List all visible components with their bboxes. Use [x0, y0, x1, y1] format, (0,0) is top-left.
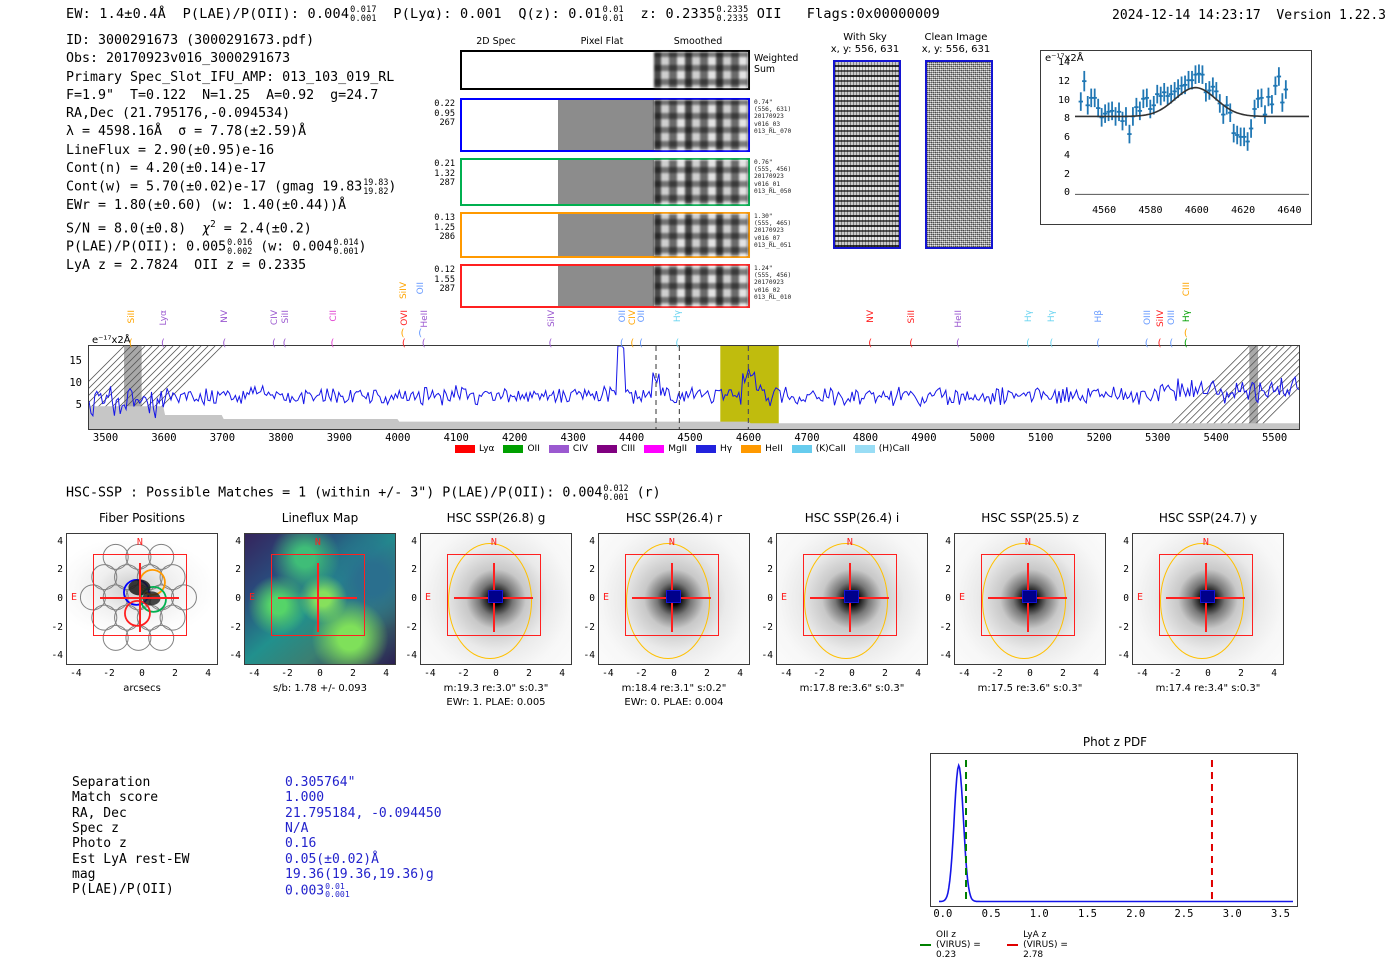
panel-xtick: -2 — [97, 668, 121, 679]
panel-xtick: 4 — [1262, 668, 1286, 679]
panel-xtick: 4 — [374, 668, 398, 679]
legend-swatch — [644, 445, 664, 453]
panel-caption-1: m:18.4 re:3.1" s:0.2" — [574, 683, 774, 694]
spectral-line-bracket: ( — [422, 338, 426, 349]
match-table-value: 0.16 — [285, 836, 316, 851]
legend-swatch — [696, 445, 716, 453]
panel-ytick: -4 — [400, 650, 417, 661]
panel-ytick: -4 — [224, 650, 241, 661]
version-label: Version 1.22.3 — [1276, 8, 1386, 23]
spectrum-xtick: 4400 — [610, 432, 654, 444]
spectrum-legend: LyαOIICIVCIIIMgIIHγHeII(K)CaII(H)CaII — [455, 444, 910, 454]
spectrum-xtick: 5400 — [1194, 432, 1238, 444]
summary-header: EW: 1.4±0.4Å P(LAE)/P(OII): 0.0040.0170.… — [66, 6, 940, 24]
spectral-line-label: OII — [618, 310, 628, 322]
line-profile-xtick: 4620 — [1227, 205, 1259, 216]
panel-ytick: 2 — [578, 564, 595, 575]
panel-ytick: -2 — [578, 622, 595, 633]
spectral-line-label: Hγ — [1182, 310, 1192, 322]
info-seeing: F=1.9" T=0.122 N=1.25 A=0.92 g=24.7 — [66, 87, 396, 105]
spectral-line-label: OII — [637, 310, 647, 322]
spectral-line-bracket: ( — [639, 338, 643, 349]
panel-caption-1: m:17.4 re:3.4" s:0.3" — [1108, 683, 1308, 694]
weighted-sum-label: WeightedSum — [754, 54, 798, 75]
photz-axes — [930, 753, 1298, 907]
panel-xtick: -2 — [1163, 668, 1187, 679]
line-profile-ytick: 4 — [1050, 150, 1070, 161]
panel-ytick: -2 — [756, 622, 773, 633]
match-table-key: P(LAE)/P(OII) — [72, 882, 174, 897]
line-profile-ytick: 8 — [1050, 113, 1070, 124]
spectral-line-label: OIII — [1143, 310, 1153, 325]
timestamp-version: 2024-12-14 14:23:17 Version 1.22.3 — [1112, 8, 1386, 23]
panel-ytick: 4 — [46, 536, 63, 547]
legend-label: MgII — [668, 444, 687, 454]
panel-xtick: -2 — [629, 668, 653, 679]
line-profile-ytick: 0 — [1050, 187, 1070, 198]
spectral-line-label: OIII — [1167, 310, 1177, 325]
panel-ytick: -4 — [578, 650, 595, 661]
match-table-key: Est LyA rest-EW — [72, 852, 189, 867]
match-marker — [666, 590, 681, 603]
legend-swatch — [855, 445, 875, 453]
panel-xtick: 2 — [163, 668, 187, 679]
error-region — [89, 406, 1299, 429]
panel-ytick: 0 — [934, 593, 951, 604]
spectral-line-bracket: ( — [283, 338, 287, 349]
panel-ytick: -2 — [1112, 622, 1129, 633]
photz-legend-label: LyA z (VIRUS) = 2.78 — [1023, 930, 1069, 960]
spectrum-xtick: 4200 — [493, 432, 537, 444]
spectrum-xtick: 4600 — [727, 432, 771, 444]
info-lineflux: LineFlux = 2.90(±0.95)e-16 — [66, 142, 396, 160]
panel-caption-1: m:17.8 re:3.6" s:0.3" — [752, 683, 952, 694]
fiber-left-values: 0.220.95267 — [415, 100, 455, 129]
spectral-line-label: SiIV — [399, 282, 409, 299]
panel-xtick: 4 — [196, 668, 220, 679]
panel-title: HSC SSP(24.7) y — [1118, 511, 1298, 525]
hsc-ssp-header: HSC-SSP : Possible Matches = 1 (within +… — [66, 484, 661, 501]
panel-title: Fiber Positions — [52, 511, 232, 525]
compass-north: N — [315, 537, 321, 548]
match-marker — [1200, 590, 1215, 603]
info-cont-w: Cont(w) = 5.70(±0.02)e-17 (gmag 19.8319.… — [66, 178, 396, 197]
panel-ytick: -2 — [934, 622, 951, 633]
panel-ytick: 4 — [400, 536, 417, 547]
panel-xtick: 0 — [130, 668, 154, 679]
hatch — [1201, 346, 1284, 429]
legend-label: (K)CaII — [816, 444, 846, 454]
info-plae: P(LAE)/P(OII): 0.0050.0160.002 (w: 0.004… — [66, 238, 396, 257]
panel-axes: NE — [420, 533, 572, 665]
panel-xtick: 4 — [906, 668, 930, 679]
panel-xtick: 0 — [1018, 668, 1042, 679]
line-profile-ytick: 6 — [1050, 132, 1070, 143]
spectrum-trace — [89, 346, 1299, 418]
panel-ytick: 0 — [400, 593, 417, 604]
compass-east: E — [603, 592, 609, 603]
spectral-line-label: Hγ — [673, 310, 683, 322]
header-plae-range: 0.0170.001 — [350, 6, 377, 23]
panel-ytick: 2 — [224, 564, 241, 575]
spectral-line-label: SiII — [281, 310, 291, 324]
legend-swatch — [597, 445, 617, 453]
line-profile-xtick: 4580 — [1134, 205, 1166, 216]
compass-north: N — [1025, 537, 1031, 548]
match-table-key: Photo z — [72, 836, 127, 851]
spectral-line-bracket: ( — [868, 338, 872, 349]
panel-xtick: -4 — [596, 668, 620, 679]
panel-ytick: 0 — [224, 593, 241, 604]
panel-title: HSC SSP(25.5) z — [940, 511, 1120, 525]
fiber-row — [460, 264, 750, 308]
line-profile-xtick: 4560 — [1088, 205, 1120, 216]
header-z-label: z: 0.2335 — [641, 6, 716, 22]
header-qz-range: 0.010.01 — [603, 6, 624, 23]
spectrum-xtick: 3800 — [259, 432, 303, 444]
hatch — [1236, 346, 1299, 429]
ws-pixelflat — [558, 52, 654, 88]
compass-east: E — [425, 592, 431, 603]
weighted-sum-row — [460, 50, 750, 90]
panel-ytick: 2 — [756, 564, 773, 575]
compass-north: N — [669, 537, 675, 548]
spectral-line-bracket: ( — [222, 338, 226, 349]
info-ewr: EWr = 1.80(±0.60) (w: 1.40(±0.44))Å — [66, 197, 396, 215]
fiber-right-meta: 1.24"(555, 456)20170923v016_02013_RL_010 — [754, 265, 791, 301]
cutout-1-title: Clean Image x, y: 556, 631 — [908, 32, 1004, 55]
photz-legend-item: LyA z (VIRUS) = 2.78 — [1007, 930, 1068, 960]
panel-xtick: 0 — [662, 668, 686, 679]
legend-swatch — [741, 445, 761, 453]
spectrum-xtick: 5500 — [1253, 432, 1297, 444]
line-profile-ytick: 12 — [1050, 76, 1070, 87]
header-z-range: 0.23350.2335 — [717, 6, 749, 23]
photz-title: Phot z PDF — [930, 735, 1300, 749]
panel-axes: NE — [954, 533, 1106, 665]
line-profile-axes: e⁻¹⁷x2Å — [1040, 50, 1312, 225]
photz-xtick: 3.5 — [1264, 908, 1296, 920]
spectrum-xtick: 4300 — [551, 432, 595, 444]
spectrum-xtick: 3900 — [317, 432, 361, 444]
panel-ytick: 2 — [400, 564, 417, 575]
spectrum-xtick: 5300 — [1136, 432, 1180, 444]
fiber-2dspec — [462, 100, 558, 150]
spectral-line-bracket: ( — [1049, 338, 1053, 349]
line-profile-xtick: 4640 — [1273, 205, 1305, 216]
legend-item: Lyα — [455, 444, 494, 454]
line-profile-ytick: 2 — [1050, 169, 1070, 180]
panel-caption-1: m:17.5 re:3.6" s:0.3" — [930, 683, 1130, 694]
spectral-line-label: Lyα — [159, 310, 169, 325]
spectral-line-bracket: ( — [161, 338, 165, 349]
panel-xtick: 0 — [308, 668, 332, 679]
match-table-value: 0.0030.010.001 — [285, 882, 350, 899]
photz-xtick: 1.0 — [1023, 908, 1055, 920]
panel-title: HSC SSP(26.4) i — [762, 511, 942, 525]
spectral-line-label: NV — [866, 310, 876, 323]
panel-xtick: 2 — [341, 668, 365, 679]
match-marker — [488, 590, 503, 603]
fiber-left-values: 0.211.32287 — [415, 160, 455, 189]
clean-image — [925, 60, 993, 249]
spectrum-xtick: 4800 — [843, 432, 887, 444]
spectral-line-label: NV — [220, 310, 230, 323]
match-table-key: Spec z — [72, 821, 119, 836]
photz-legend-label: OII z (VIRUS) = 0.23 — [936, 930, 981, 960]
panel-caption-2: EWr: 1. PLAE: 0.005 — [396, 697, 596, 708]
panel-ytick: -4 — [934, 650, 951, 661]
line-profile-ytick: 10 — [1050, 95, 1070, 106]
panel-ytick: 4 — [578, 536, 595, 547]
panel-xtick: -4 — [1130, 668, 1154, 679]
panel-ytick: 0 — [46, 593, 63, 604]
fiber-left-values: 0.131.25286 — [415, 214, 455, 243]
panel-xtick: -4 — [774, 668, 798, 679]
match-table-value: 19.36(19.36,19.36)g — [285, 867, 434, 882]
spectral-line-bracket: ( — [549, 338, 553, 349]
legend-item: (K)CaII — [792, 444, 846, 454]
spectrum-xtick: 3500 — [84, 432, 128, 444]
panel-title: Lineflux Map — [230, 511, 410, 525]
legend-item: (H)CaII — [855, 444, 910, 454]
spectral-line-bracket: ( — [675, 338, 679, 349]
ws-2dspec — [462, 52, 558, 88]
spectral-line-bracket: ( — [129, 338, 133, 349]
panel-xtick: -4 — [64, 668, 88, 679]
match-table-value: 0.305764" — [285, 775, 355, 790]
spectral-line-label: CII — [329, 310, 339, 322]
panel-ytick: 4 — [1112, 536, 1129, 547]
spectral-line-bracket: ( — [1096, 338, 1100, 349]
compass-north: N — [1203, 537, 1209, 548]
col-header-2dspec: 2D Spec — [456, 36, 536, 47]
info-sn-chi2: S/N = 8.0(±0.8) χ2 = 2.4(±0.2) — [66, 216, 396, 239]
spectrum-xtick: 3700 — [200, 432, 244, 444]
spectral-line-label: OVI — [400, 310, 410, 326]
fiber-2dspec — [462, 160, 558, 204]
photz-xtick: 3.0 — [1216, 908, 1248, 920]
spectral-line-bracket: ( — [331, 338, 335, 349]
col-header-pixelflat: Pixel Flat — [562, 36, 642, 47]
header-plya: P(Lyα): 0.001 — [393, 6, 501, 22]
spectrum-units: e⁻¹⁷x2Å — [92, 335, 131, 346]
match-table-key: Match score — [72, 790, 158, 805]
panel-axes: NE — [598, 533, 750, 665]
panel-xtick: -4 — [418, 668, 442, 679]
spectral-line-label: Hγ — [1047, 310, 1057, 322]
spectral-line-bracket: ( — [630, 338, 634, 349]
panel-xtick: 4 — [1084, 668, 1108, 679]
match-marker — [844, 590, 859, 603]
legend-label: Lyα — [479, 444, 494, 454]
compass-east: E — [959, 592, 965, 603]
panel-ytick: -4 — [46, 650, 63, 661]
panel-xtick: -2 — [985, 668, 1009, 679]
panel-title: HSC SSP(26.4) r — [584, 511, 764, 525]
spectral-line-label: HeII — [420, 310, 430, 328]
panel-xtick: 2 — [873, 668, 897, 679]
fiber-right-meta: 1.30"(555, 465)20170923v016_07013_RL_051 — [754, 213, 791, 249]
panel-axes: NE — [244, 533, 396, 665]
legend-label: CIII — [621, 444, 635, 454]
match-table-value: N/A — [285, 821, 308, 836]
legend-item: Hγ — [696, 444, 732, 454]
legend-label: Hγ — [720, 444, 732, 454]
panel-ytick: 4 — [934, 536, 951, 547]
fiber-pixelflat — [558, 214, 654, 256]
fiber-right-meta: 0.76"(555, 456)20170923v016_01013_RL_050 — [754, 159, 791, 195]
legend-swatch — [503, 445, 523, 453]
spectral-line-bracket: ( — [1026, 338, 1030, 349]
spectral-line-label: CIV — [270, 310, 280, 325]
spectrum-xtick: 4000 — [376, 432, 420, 444]
panel-axes: NE — [776, 533, 928, 665]
cutout-0-title: With Sky x, y: 556, 631 — [820, 32, 910, 55]
match-table-key: mag — [72, 867, 95, 882]
spectral-line-bracket: ( — [1184, 338, 1188, 349]
panel-caption-1: m:19.3 re:3.0" s:0.3" — [396, 683, 596, 694]
spectrum-xtick: 4100 — [434, 432, 478, 444]
fiber-row — [460, 98, 750, 152]
line-profile-ytick: 14 — [1050, 57, 1070, 68]
legend-swatch — [455, 445, 475, 453]
panel-xtick: 2 — [695, 668, 719, 679]
panel-ytick: 0 — [1112, 593, 1129, 604]
photz-legend-swatch — [1007, 944, 1018, 946]
info-obs: Obs: 20170923v016_3000291673 — [66, 50, 396, 68]
spectrum-axes: e⁻¹⁷x2Å — [88, 345, 1300, 430]
legend-item: HeII — [741, 444, 783, 454]
panel-xtick: -2 — [275, 668, 299, 679]
panel-axes: NE — [1132, 533, 1284, 665]
col-header-smoothed: Smoothed — [658, 36, 738, 47]
compass-east: E — [781, 592, 787, 603]
panel-ytick: 2 — [1112, 564, 1129, 575]
fiber-2dspec — [462, 266, 558, 306]
photz-legend: OII z (VIRUS) = 0.23LyA z (VIRUS) = 2.78 — [920, 930, 1069, 960]
panel-xtick: -2 — [807, 668, 831, 679]
panel-xtick: 4 — [728, 668, 752, 679]
legend-swatch — [792, 445, 812, 453]
photz-xtick: 2.5 — [1168, 908, 1200, 920]
match-table-value: 1.000 — [285, 790, 324, 805]
spectral-line-bracket: ( — [909, 338, 913, 349]
match-table-value: 0.05(±0.02)Å — [285, 852, 379, 867]
panel-xtick: -2 — [451, 668, 475, 679]
spectral-line-bracket: ( — [1145, 338, 1149, 349]
spectral-line-bracket: ( — [956, 338, 960, 349]
panel-xtick: 0 — [1196, 668, 1220, 679]
spectrum-ytick: 10 — [58, 377, 82, 389]
legend-label: (H)CaII — [879, 444, 910, 454]
panel-xtick: -4 — [952, 668, 976, 679]
match-table-key: RA, Dec — [72, 806, 127, 821]
spectral-line-bracket: ( — [272, 338, 276, 349]
match-table-value: 21.795184, -0.094450 — [285, 806, 442, 821]
panel-title: HSC SSP(26.8) g — [406, 511, 586, 525]
fiber-2dspec — [462, 214, 558, 256]
panel-ytick: -4 — [1112, 650, 1129, 661]
compass-north: N — [847, 537, 853, 548]
fiber-row — [460, 212, 750, 258]
info-radec: RA,Dec (21.795176,-0.094534) — [66, 105, 396, 123]
compass-north: N — [491, 537, 497, 548]
photz-xtick: 0.5 — [975, 908, 1007, 920]
legend-item: CIV — [549, 444, 588, 454]
photz-xtick: 0.0 — [927, 908, 959, 920]
spectral-line-label: Hβ — [1094, 310, 1104, 323]
line-profile-xtick: 4600 — [1181, 205, 1213, 216]
panel-ytick: 0 — [756, 593, 773, 604]
panel-ytick: 2 — [934, 564, 951, 575]
photz-xtick: 2.0 — [1120, 908, 1152, 920]
spectrum-xtick: 3600 — [142, 432, 186, 444]
panel-caption-2: EWr: 0. PLAE: 0.004 — [574, 697, 774, 708]
spectrum-ytick: 15 — [58, 355, 82, 367]
timestamp: 2024-12-14 14:23:17 — [1112, 8, 1261, 23]
panel-xtick: 0 — [840, 668, 864, 679]
panel-ytick: 2 — [46, 564, 63, 575]
spectral-line-label: SiIV — [547, 310, 557, 327]
fiber-smoothed — [654, 160, 748, 204]
legend-item: CIII — [597, 444, 635, 454]
with-sky-image — [833, 60, 901, 249]
spectral-line-bracket: ( — [1158, 338, 1162, 349]
spectral-line-label: SiIV — [1156, 310, 1166, 327]
header-z-type: OII — [757, 6, 782, 22]
fiber-smoothed — [654, 214, 748, 256]
legend-label: OII — [527, 444, 539, 454]
legend-label: CIV — [573, 444, 588, 454]
photz-pdf-curve — [939, 766, 1293, 902]
spectral-line-label: OII — [416, 282, 426, 294]
panel-xtick: 2 — [1229, 668, 1253, 679]
photz-legend-item: OII z (VIRUS) = 0.23 — [920, 930, 981, 960]
info-redshifts: LyA z = 2.7824 OII z = 0.2335 — [66, 257, 396, 275]
photz-legend-swatch — [920, 944, 931, 946]
spectral-line-label: HeII — [954, 310, 964, 328]
legend-item: MgII — [644, 444, 687, 454]
header-ew: EW: 1.4±0.4Å — [66, 6, 166, 22]
fiber-smoothed — [654, 100, 748, 150]
match-table-key: Separation — [72, 775, 150, 790]
panel-ytick: 4 — [224, 536, 241, 547]
highlight-band — [720, 346, 778, 429]
info-wavelength: λ = 4598.16Å σ = 7.78(±2.59)Å — [66, 123, 396, 141]
source-info-block: ID: 3000291673 (3000291673.pdf) Obs: 201… — [66, 32, 396, 276]
panel-axes: NE — [66, 533, 218, 665]
info-id: ID: 3000291673 (3000291673.pdf) — [66, 32, 396, 50]
spectrum-xtick: 4900 — [902, 432, 946, 444]
legend-label: HeII — [765, 444, 783, 454]
match-marker — [1022, 590, 1037, 603]
panel-xtick: 2 — [517, 668, 541, 679]
panel-xtick: -4 — [242, 668, 266, 679]
legend-swatch — [549, 445, 569, 453]
compass-north: N — [137, 537, 143, 548]
crosshair-v — [317, 563, 319, 632]
spectral-line-label: CIII — [1182, 282, 1192, 296]
spectrum-xtick: 5200 — [1077, 432, 1121, 444]
spectrum-xtick: 4700 — [785, 432, 829, 444]
spectrum-xtick: 4500 — [668, 432, 712, 444]
panel-ytick: -4 — [756, 650, 773, 661]
panel-ytick: -2 — [46, 622, 63, 633]
fiber-pixelflat — [558, 266, 654, 306]
panel-ytick: 4 — [756, 536, 773, 547]
panel-ytick: -2 — [400, 622, 417, 633]
